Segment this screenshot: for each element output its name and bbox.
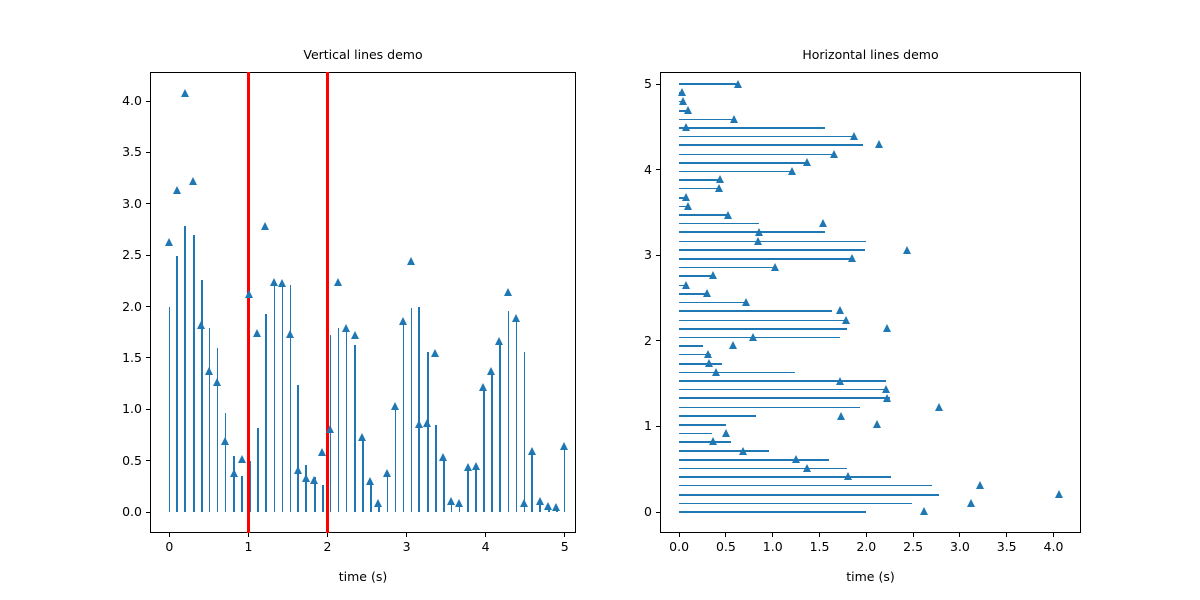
triangle-marker	[875, 140, 883, 148]
triangle-marker	[270, 278, 278, 286]
x-tick-mark	[959, 533, 960, 537]
triangle-marker	[552, 503, 560, 511]
triangle-marker	[399, 317, 407, 325]
horizontal-stem-line	[679, 214, 729, 216]
vertical-stem-line	[508, 311, 510, 512]
horizontal-stem-line	[679, 433, 712, 435]
horizontal-stem-line	[679, 136, 855, 138]
triangle-marker	[678, 88, 686, 96]
y-tick-mark	[146, 512, 150, 513]
horizontal-stem-line	[679, 407, 860, 409]
x-tick-label: 4	[482, 541, 490, 554]
vertical-stem-line	[362, 438, 364, 512]
x-tick-label: 1.5	[810, 541, 830, 554]
x-tick-label: 3.5	[997, 541, 1017, 554]
triangle-marker	[504, 288, 512, 296]
vertical-stem-line	[297, 385, 299, 512]
triangle-marker	[848, 254, 856, 262]
horizontal-stem-line	[679, 380, 886, 382]
x-tick-mark	[406, 533, 407, 537]
triangle-marker	[326, 425, 334, 433]
triangle-marker	[704, 350, 712, 358]
triangle-marker	[520, 499, 528, 507]
horizontal-stem-line	[679, 258, 853, 260]
vertical-stem-line	[531, 451, 533, 512]
vertical-stem-line	[274, 281, 276, 512]
triangle-marker	[439, 453, 447, 461]
triangle-marker	[684, 202, 692, 210]
y-tick-mark	[146, 101, 150, 102]
triangle-marker	[709, 271, 717, 279]
triangle-marker	[431, 349, 439, 357]
vertical-stem-line	[201, 280, 203, 512]
triangle-marker	[528, 447, 536, 455]
triangle-marker	[722, 429, 730, 437]
triangle-marker	[803, 464, 811, 472]
x-tick-mark	[819, 533, 820, 537]
vertical-stem-line	[435, 425, 437, 512]
x-tick-label: 5	[561, 541, 569, 554]
vertical-stem-line	[241, 476, 243, 512]
x-tick-mark	[1053, 533, 1054, 537]
triangle-marker	[302, 474, 310, 482]
triangle-marker	[682, 123, 690, 131]
triangle-marker	[742, 298, 750, 306]
vertical-stem-line	[387, 474, 389, 512]
horizontal-stem-line	[679, 320, 847, 322]
triangle-marker	[730, 115, 738, 123]
triangle-marker	[221, 437, 229, 445]
triangle-marker	[464, 463, 472, 471]
triangle-marker	[334, 278, 342, 286]
vertical-stem-line	[330, 335, 332, 512]
y-tick-label: 3.0	[122, 198, 142, 211]
triangle-marker	[512, 314, 520, 322]
y-tick-mark	[656, 84, 660, 85]
horizontal-stem-line	[679, 459, 829, 461]
y-tick-label: 1.5	[122, 352, 142, 365]
horizontal-stem-line	[679, 310, 832, 312]
horizontal-stem-line	[679, 179, 720, 181]
x-tick-label: 2.0	[856, 541, 876, 554]
vertical-stem-line	[338, 328, 340, 512]
horizontal-stem-line	[679, 144, 862, 146]
triangle-marker	[358, 433, 366, 441]
vertical-stem-line	[176, 256, 178, 512]
triangle-marker	[837, 412, 845, 420]
triangle-marker	[724, 211, 732, 219]
x-tick-label: 0	[165, 541, 173, 554]
triangle-marker	[455, 499, 463, 507]
triangle-marker	[310, 476, 318, 484]
triangle-marker	[230, 469, 238, 477]
triangle-marker	[479, 383, 487, 391]
x-tick-mark	[564, 533, 565, 537]
triangle-marker	[1055, 490, 1063, 498]
horizontal-stem-line	[679, 345, 703, 347]
vertical-stem-line	[290, 285, 292, 512]
triangle-marker	[715, 184, 723, 192]
triangle-marker	[850, 132, 858, 140]
triangle-marker	[788, 167, 796, 175]
triangle-marker	[472, 462, 480, 470]
vertical-stem-line	[169, 307, 171, 513]
horizontal-stem-line	[679, 511, 866, 513]
vertical-stem-line	[305, 465, 307, 512]
triangle-marker	[560, 442, 568, 450]
triangle-marker	[245, 290, 253, 298]
triangle-marker	[771, 263, 779, 271]
vertical-stem-line	[225, 413, 227, 512]
horizontal-stem-line	[679, 503, 912, 505]
x-tick-mark	[679, 533, 680, 537]
x-tick-mark	[248, 533, 249, 537]
triangle-marker	[165, 238, 173, 246]
x-tick-label: 0.0	[669, 541, 689, 554]
triangle-marker	[803, 158, 811, 166]
vertical-stem-line	[217, 348, 219, 512]
x-tick-label: 3	[403, 541, 411, 554]
triangle-marker	[213, 378, 221, 386]
triangle-marker	[294, 466, 302, 474]
vertical-stem-line	[184, 226, 186, 512]
vertical-stem-line	[370, 481, 372, 512]
triangle-marker	[366, 477, 374, 485]
triangle-marker	[836, 377, 844, 385]
plot-data-area-left	[150, 72, 576, 533]
x-axis-label-left: time (s)	[150, 571, 576, 584]
vertical-stem-line	[403, 321, 405, 512]
vertical-stem-line	[418, 307, 420, 513]
y-tick-mark	[656, 426, 660, 427]
triangle-marker	[883, 324, 891, 332]
vertical-stem-line	[257, 428, 259, 512]
y-tick-mark	[146, 409, 150, 410]
triangle-marker	[447, 497, 455, 505]
triangle-marker	[238, 455, 246, 463]
x-tick-label: 2	[324, 541, 332, 554]
triangle-marker	[754, 237, 762, 245]
x-tick-label: 3.0	[950, 541, 970, 554]
horizontal-stem-line	[679, 485, 932, 487]
horizontal-stem-line	[679, 441, 730, 443]
y-tick-mark	[146, 357, 150, 358]
horizontal-stem-line	[679, 372, 795, 374]
triangle-marker	[487, 367, 495, 375]
horizontal-stem-line	[679, 249, 865, 251]
triangle-marker	[415, 420, 423, 428]
horizontal-stem-line	[679, 83, 739, 85]
triangle-marker	[383, 469, 391, 477]
triangle-marker	[197, 321, 205, 329]
horizontal-stem-line	[679, 162, 807, 164]
y-tick-label: 4	[644, 164, 652, 177]
triangle-marker	[755, 228, 763, 236]
y-tick-label: 5	[644, 78, 652, 91]
x-tick-mark	[913, 533, 914, 537]
vertical-stem-line	[475, 467, 477, 512]
x-tick-mark	[1006, 533, 1007, 537]
triangle-marker	[318, 448, 326, 456]
triangle-marker	[703, 289, 711, 297]
y-tick-label: 4.0	[122, 95, 142, 108]
triangle-marker	[716, 175, 724, 183]
x-tick-label: 0.5	[716, 541, 736, 554]
vertical-stem-line	[411, 308, 413, 512]
triangle-marker	[709, 437, 717, 445]
horizontal-stem-line	[679, 231, 825, 233]
triangle-marker	[181, 89, 189, 97]
y-tick-label: 2.5	[122, 249, 142, 262]
triangle-marker	[286, 330, 294, 338]
triangle-marker	[882, 385, 890, 393]
y-tick-label: 1.0	[122, 403, 142, 416]
y-tick-mark	[656, 512, 660, 513]
y-tick-label: 2	[644, 335, 652, 348]
x-tick-label: 2.5	[903, 541, 923, 554]
plot-title-left: Vertical lines demo	[150, 49, 576, 62]
vertical-stem-line	[395, 408, 397, 512]
y-tick-label: 1	[644, 420, 652, 433]
x-tick-label: 1	[244, 541, 252, 554]
triangle-marker	[830, 150, 838, 158]
triangle-marker	[729, 341, 737, 349]
y-tick-label: 0.5	[122, 454, 142, 467]
y-tick-label: 0.0	[122, 506, 142, 519]
triangle-marker	[749, 333, 757, 341]
triangle-marker	[682, 193, 690, 201]
horizontal-stem-line	[679, 389, 887, 391]
triangle-marker	[261, 222, 269, 230]
triangle-marker	[712, 368, 720, 376]
triangle-marker	[495, 337, 503, 345]
plot-title-right: Horizontal lines demo	[660, 49, 1081, 62]
horizontal-stem-line	[679, 415, 756, 417]
y-tick-label: 3.5	[122, 146, 142, 159]
horizontal-stem-line	[679, 468, 847, 470]
horizontal-stem-line	[679, 424, 726, 426]
horizontal-stem-line	[679, 223, 759, 225]
vertical-stem-line	[265, 314, 267, 512]
horizontal-stem-line	[679, 302, 746, 304]
y-tick-mark	[146, 306, 150, 307]
horizontal-stem-line	[679, 267, 774, 269]
triangle-marker	[536, 497, 544, 505]
vertical-stem-line	[564, 446, 566, 512]
triangle-marker	[739, 447, 747, 455]
x-tick-mark	[485, 533, 486, 537]
y-tick-mark	[656, 169, 660, 170]
y-tick-label: 3	[644, 249, 652, 262]
triangle-marker	[967, 499, 975, 507]
vertical-stem-line	[491, 371, 493, 512]
horizontal-stem-line	[679, 450, 769, 452]
horizontal-stem-line	[679, 154, 834, 156]
emphasis-vertical-line	[326, 72, 328, 533]
y-tick-mark	[146, 255, 150, 256]
triangle-marker	[873, 420, 881, 428]
vertical-stem-line	[467, 468, 469, 512]
emphasis-vertical-line	[247, 72, 249, 533]
vertical-stem-line	[499, 341, 501, 512]
triangle-marker	[836, 306, 844, 314]
y-tick-mark	[146, 460, 150, 461]
x-tick-label: 1.0	[763, 541, 783, 554]
triangle-marker	[705, 359, 713, 367]
horizontal-stem-line	[679, 171, 792, 173]
triangle-marker	[407, 257, 415, 265]
triangle-marker	[819, 219, 827, 227]
x-tick-mark	[725, 533, 726, 537]
x-axis-label-right: time (s)	[660, 571, 1081, 584]
vertical-stem-line	[193, 235, 195, 512]
horizontal-stem-line	[679, 127, 825, 129]
triangle-marker	[883, 394, 891, 402]
horizontal-stem-line	[679, 328, 847, 330]
y-tick-mark	[656, 340, 660, 341]
triangle-marker	[682, 281, 690, 289]
vertical-stem-line	[346, 327, 348, 512]
triangle-marker	[734, 80, 742, 88]
triangle-marker	[976, 481, 984, 489]
triangle-marker	[903, 246, 911, 254]
y-tick-mark	[656, 255, 660, 256]
vertical-stem-line	[524, 352, 526, 512]
y-tick-label: 2.0	[122, 300, 142, 313]
horizontal-stem-line	[679, 494, 939, 496]
vertical-stem-line	[233, 456, 235, 513]
triangle-marker	[684, 106, 692, 114]
y-tick-mark	[146, 203, 150, 204]
triangle-marker	[544, 502, 552, 510]
vertical-stem-line	[282, 284, 284, 512]
triangle-marker	[935, 403, 943, 411]
triangle-marker	[679, 97, 687, 105]
vertical-stem-line	[443, 458, 445, 512]
plot-data-area-right	[660, 72, 1081, 533]
x-tick-mark	[772, 533, 773, 537]
vertical-stem-line	[322, 485, 324, 512]
y-tick-label: 0	[644, 506, 652, 519]
triangle-marker	[173, 186, 181, 194]
vertical-stem-line	[427, 352, 429, 512]
triangle-marker	[844, 472, 852, 480]
triangle-marker	[278, 279, 286, 287]
horizontal-stem-line	[679, 188, 719, 190]
triangle-marker	[792, 455, 800, 463]
matplotlib-figure: Vertical lines demo 0123450.00.51.01.52.…	[0, 0, 1200, 600]
triangle-marker	[391, 402, 399, 410]
x-tick-mark	[169, 533, 170, 537]
triangle-marker	[342, 324, 350, 332]
triangle-marker	[189, 177, 197, 185]
horizontal-stem-line	[679, 397, 890, 399]
vertical-stem-line	[483, 388, 485, 512]
triangle-marker	[205, 367, 213, 375]
x-tick-label: 4.0	[1044, 541, 1064, 554]
triangle-marker	[253, 329, 261, 337]
triangle-marker	[842, 316, 850, 324]
horizontal-stem-line	[679, 119, 734, 121]
triangle-marker	[423, 419, 431, 427]
horizontal-stem-line	[679, 337, 840, 339]
triangle-marker	[920, 507, 928, 515]
horizontal-stem-line	[679, 363, 722, 365]
x-tick-mark	[327, 533, 328, 537]
y-tick-mark	[146, 152, 150, 153]
horizontal-stem-line	[679, 476, 891, 478]
vertical-stem-line	[516, 319, 518, 512]
vertical-stem-line	[209, 328, 211, 512]
triangle-marker	[374, 499, 382, 507]
x-tick-mark	[866, 533, 867, 537]
triangle-marker	[351, 331, 359, 339]
vertical-stem-line	[354, 345, 356, 512]
horizontal-stem-line	[679, 241, 866, 243]
